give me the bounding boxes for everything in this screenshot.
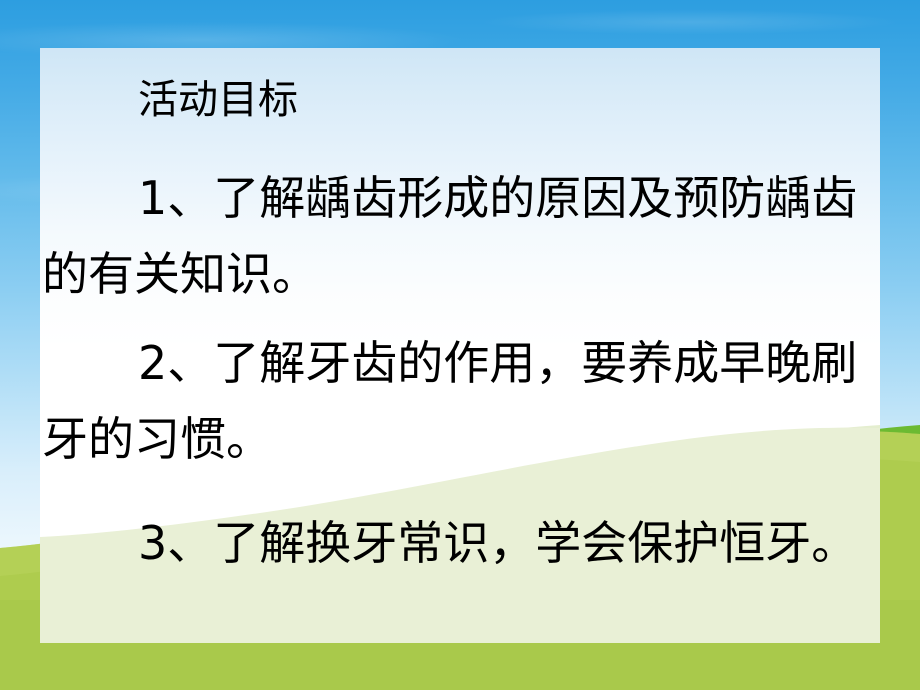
objective-line-1-cont: 的有关知识。 <box>42 244 318 304</box>
slide-title: 活动目标 <box>138 74 298 126</box>
objective-line-3: 3、了解换牙常识，学会保护恒牙。 <box>138 513 857 573</box>
slide: 活动目标 1、了解龋齿形成的原因及预防龋齿 的有关知识。 2、了解牙齿的作用，要… <box>0 0 920 690</box>
objective-line-2: 2、了解牙齿的作用，要养成早晚刷 <box>138 333 857 393</box>
panel-text-block: 活动目标 1、了解龋齿形成的原因及预防龋齿 的有关知识。 2、了解牙齿的作用，要… <box>40 48 880 643</box>
objective-line-2-cont: 牙的习惯。 <box>42 409 272 469</box>
objective-line-1: 1、了解龋齿形成的原因及预防龋齿 <box>138 168 857 228</box>
content-panel: 活动目标 1、了解龋齿形成的原因及预防龋齿 的有关知识。 2、了解牙齿的作用，要… <box>40 48 880 643</box>
